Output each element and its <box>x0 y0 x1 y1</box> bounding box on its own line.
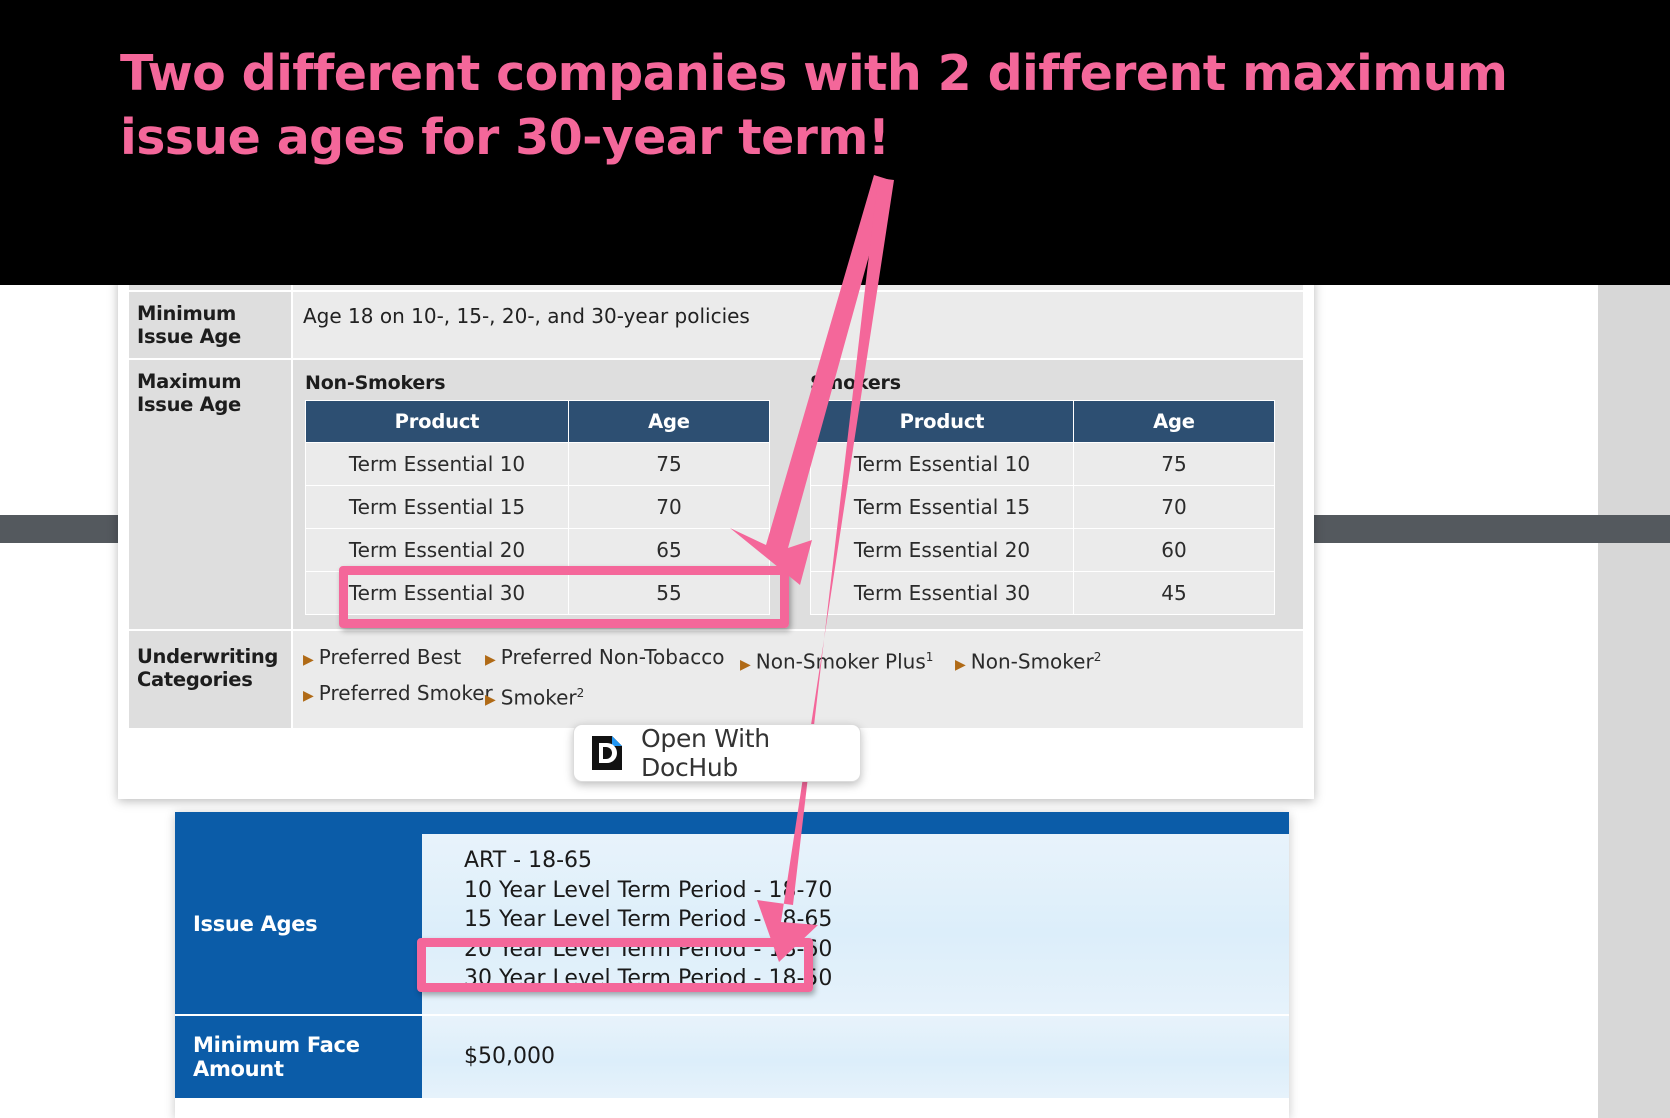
minimum-face-amount-value: $50,000 <box>422 1016 1289 1100</box>
triangle-bullet-icon: ▶ <box>303 688 314 704</box>
upper-document-page: Minimum Issue Age Age 18 on 10-, 15-, 20… <box>118 276 1314 799</box>
table-row: Term Essential 10 75 <box>306 443 769 485</box>
underwriting-item: ▶Non-Smoker2 <box>955 643 1155 679</box>
underwriting-item-label: Preferred Best <box>319 645 461 669</box>
row-minimum-face-amount: Minimum Face Amount $50,000 <box>175 1016 1289 1100</box>
row-underwriting-categories: Underwriting Categories ▶Preferred Best … <box>129 631 1303 728</box>
cell-age: 45 <box>1074 572 1274 614</box>
underwriting-item-label: Non-Smoker Plus <box>756 650 926 674</box>
underwriting-item: ▶Non-Smoker Plus1 <box>740 643 955 679</box>
triangle-bullet-icon: ▶ <box>485 692 496 708</box>
minimum-issue-age-value: Age 18 on 10-, 15-, 20-, and 30-year pol… <box>293 292 1303 358</box>
underwriting-item: ▶Preferred Smoker <box>303 679 485 715</box>
open-with-dochub-button[interactable]: Open With DocHub <box>573 724 861 782</box>
underwriting-item-label: Preferred Smoker <box>319 681 493 705</box>
cell-product: Term Essential 15 <box>811 486 1073 528</box>
issue-age-line: 15 Year Level Term Period - 18-65 <box>464 905 1289 935</box>
underwriting-label-line1: Underwriting <box>137 645 291 668</box>
cell-age: 75 <box>1074 443 1274 485</box>
footnote-marker: 1 <box>926 650 934 664</box>
underwriting-categories-value: ▶Preferred Best ▶Preferred Non-Tobacco ▶… <box>293 631 1303 728</box>
cell-age: 70 <box>569 486 769 528</box>
headline-banner: Two different companies with 2 different… <box>0 0 1670 285</box>
underwriting-item-label: Preferred Non-Tobacco <box>501 645 725 669</box>
table-row: Term Essential 10 75 <box>811 443 1274 485</box>
non-smokers-title: Non-Smokers <box>305 372 788 394</box>
non-smokers-col-product: Product <box>306 401 568 442</box>
dochub-logo-icon <box>590 734 624 772</box>
issue-age-line: 10 Year Level Term Period - 18-70 <box>464 876 1289 906</box>
underwriting-item: ▶Preferred Non-Tobacco <box>485 643 740 679</box>
smokers-title: Smokers <box>810 372 1293 394</box>
triangle-bullet-icon: ▶ <box>485 652 496 668</box>
cell-age: 60 <box>1074 529 1274 571</box>
minimum-issue-age-label: Minimum Issue Age <box>129 292 291 358</box>
footnote-marker: 2 <box>577 686 585 700</box>
cell-product: Term Essential 10 <box>811 443 1073 485</box>
table-row: Term Essential 20 65 <box>306 529 769 571</box>
cell-product: Term Essential 20 <box>811 529 1073 571</box>
table-row: Term Essential 20 60 <box>811 529 1274 571</box>
highlight-box-30-year-level-term <box>417 938 813 992</box>
triangle-bullet-icon: ▶ <box>303 652 314 668</box>
cell-product: Term Essential 10 <box>306 443 568 485</box>
smokers-table: Product Age Term Essential 10 75 Term Es… <box>810 400 1275 615</box>
smokers-block: Smokers Product Age Term Essential 10 75 <box>808 372 1293 615</box>
cell-age: 65 <box>569 529 769 571</box>
highlight-box-term-essential-30-nonsmoker <box>339 566 789 628</box>
issue-ages-label: Issue Ages <box>175 834 422 1016</box>
cell-product: Term Essential 20 <box>306 529 568 571</box>
footnote-marker: 2 <box>1094 650 1102 664</box>
headline-text: Two different companies with 2 different… <box>120 42 1520 170</box>
minimum-face-amount-label: Minimum Face Amount <box>175 1016 422 1100</box>
table-row: Term Essential 30 45 <box>811 572 1274 614</box>
underwriting-item: ▶Preferred Best <box>303 643 485 679</box>
underwriting-item: ▶Smoker2 <box>485 679 740 715</box>
underwriting-item-label: Non-Smoker <box>971 650 1094 674</box>
page-margin-right-upper <box>1598 276 1670 516</box>
table-row: Term Essential 15 70 <box>306 486 769 528</box>
issue-age-line: ART - 18-65 <box>464 846 1289 876</box>
non-smokers-header-row: Product Age <box>306 401 769 442</box>
maximum-issue-age-label: Maximum Issue Age <box>129 360 291 629</box>
cell-product: Term Essential 30 <box>811 572 1073 614</box>
underwriting-label-line2: Categories <box>137 668 291 691</box>
cell-age: 70 <box>1074 486 1274 528</box>
lower-table-header-bar <box>175 812 1289 834</box>
smokers-col-product: Product <box>811 401 1073 442</box>
table-row: Term Essential 15 70 <box>811 486 1274 528</box>
cell-product: Term Essential 15 <box>306 486 568 528</box>
triangle-bullet-icon: ▶ <box>740 657 751 673</box>
product-specs-table: Minimum Issue Age Age 18 on 10-, 15-, 20… <box>127 276 1305 730</box>
underwriting-categories-label: Underwriting Categories <box>129 631 291 728</box>
page-margin-right-lower <box>1598 543 1670 1118</box>
smokers-col-age: Age <box>1074 401 1274 442</box>
triangle-bullet-icon: ▶ <box>955 657 966 673</box>
dochub-button-label: Open With DocHub <box>641 724 860 782</box>
smokers-header-row: Product Age <box>811 401 1274 442</box>
cell-age: 75 <box>569 443 769 485</box>
non-smokers-col-age: Age <box>569 401 769 442</box>
row-minimum-issue-age: Minimum Issue Age Age 18 on 10-, 15-, 20… <box>129 292 1303 358</box>
underwriting-item-label: Smoker <box>501 685 577 709</box>
